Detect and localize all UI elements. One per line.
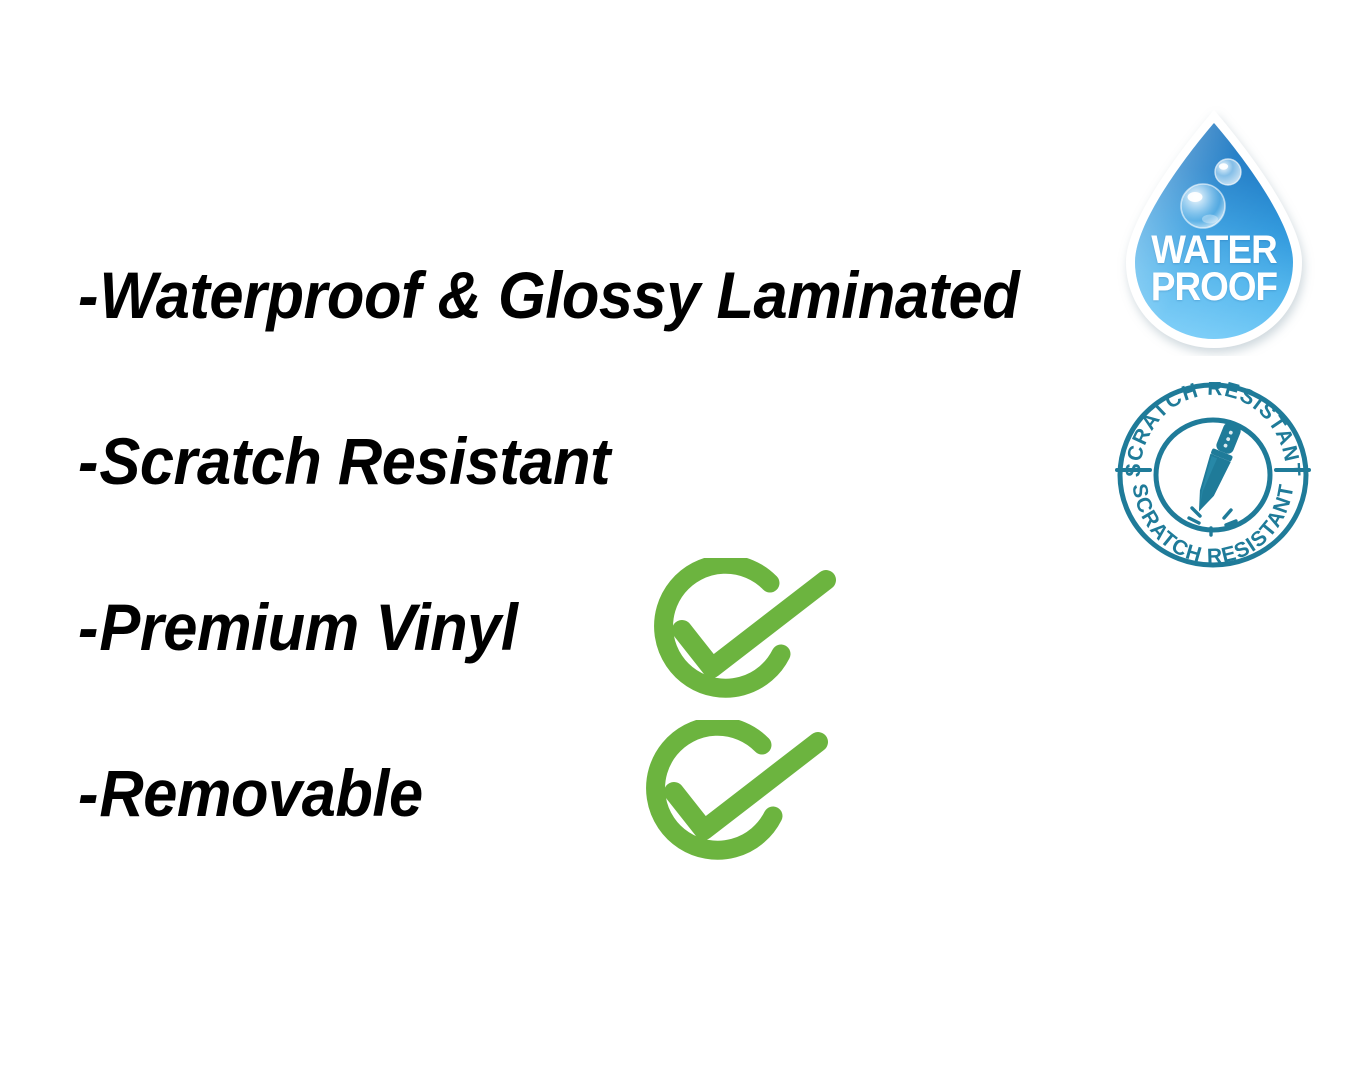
feature-line-scratch-resistant: -Scratch Resistant — [78, 428, 610, 494]
water-bubble-small — [1215, 159, 1241, 185]
feature-line-premium-vinyl: -Premium Vinyl — [78, 594, 517, 660]
feature-line-removable: -Removable — [78, 760, 423, 826]
feature-label: Removable — [99, 756, 422, 830]
feature-line-waterproof-glossy: -Waterproof & Glossy Laminated — [78, 262, 1019, 328]
check-tick — [674, 742, 818, 830]
bullet-dash: - — [78, 756, 99, 830]
waterproof-drop-badge: WATER PROOF — [1106, 106, 1322, 356]
green-check-circle-removable — [632, 720, 828, 872]
check-circle-icon — [632, 720, 828, 872]
scratch-resistant-stamp-icon: SCRATCH RESISTANT SCRATCH RESISTANT — [1110, 382, 1316, 568]
check-circle-icon — [640, 558, 836, 710]
bullet-dash: - — [78, 258, 99, 332]
waterproof-label-line1: WATER — [1115, 232, 1314, 269]
scratch-resistant-stamp-badge: SCRATCH RESISTANT SCRATCH RESISTANT — [1110, 382, 1316, 568]
bullet-dash: - — [78, 590, 99, 664]
scratch-spark-marks — [1189, 508, 1236, 535]
feature-label: Scratch Resistant — [99, 424, 610, 498]
knife-icon — [1189, 420, 1245, 515]
feature-label: Premium Vinyl — [99, 590, 517, 664]
check-tick — [682, 580, 826, 668]
product-feature-graphic: -Waterproof & Glossy Laminated -Scratch … — [0, 0, 1359, 1080]
water-bubble-large — [1181, 184, 1225, 228]
feature-label: Waterproof & Glossy Laminated — [99, 258, 1019, 332]
bullet-dash: - — [78, 424, 99, 498]
green-check-circle-premium-vinyl — [640, 558, 836, 710]
waterproof-label-line2: PROOF — [1115, 269, 1314, 306]
